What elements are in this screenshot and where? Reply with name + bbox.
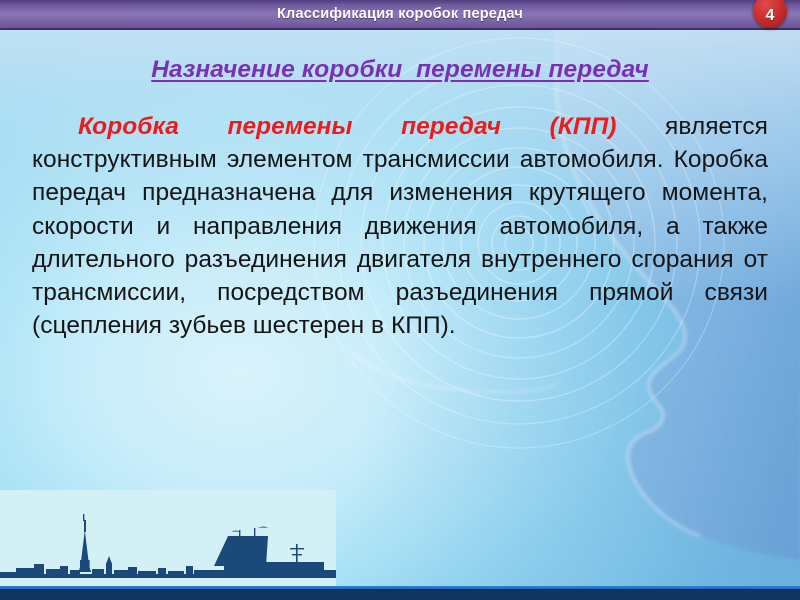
title-bar: Классификация коробок передач [0, 0, 800, 30]
section-subtitle: Назначение коробки перемены передач [0, 56, 800, 84]
body-paragraph: Коробка перемены передач (КПП) является … [32, 110, 768, 342]
bottom-bar [0, 589, 800, 600]
section-subtitle-label: Назначение коробки перемены передач [151, 56, 649, 83]
slide-canvas: Классификация коробок передач 4 Назначен… [0, 0, 800, 600]
saint-petersburg-skyline-icon [0, 490, 336, 586]
body-rest-text: является конструктивным элементом трансм… [32, 113, 768, 339]
city-skyline-panel [0, 490, 336, 586]
slide-number-label: 4 [766, 8, 775, 24]
page-title: Классификация коробок передач [277, 6, 523, 22]
body-highlight-text: Коробка перемены передач (КПП) [78, 113, 616, 140]
body-paragraph-text: Коробка перемены передач (КПП) является … [32, 110, 768, 342]
